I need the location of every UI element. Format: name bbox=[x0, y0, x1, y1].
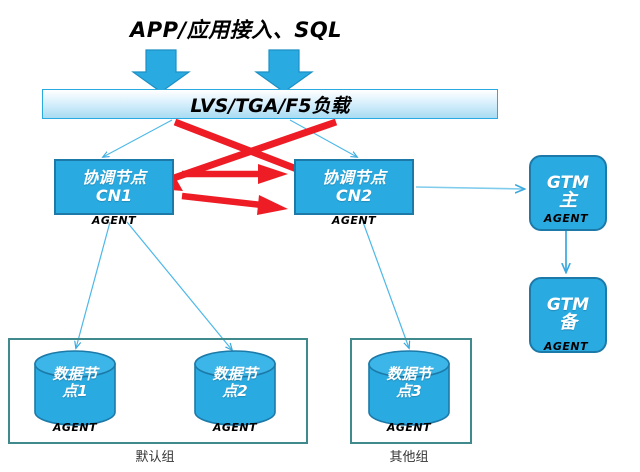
gtm-standby-label-line2: 备 bbox=[559, 314, 577, 333]
connector-cn1-to-dn2 bbox=[127, 222, 232, 350]
inflow-arrow-right-icon bbox=[256, 50, 312, 92]
connector-lvs-to-cn1 bbox=[103, 120, 172, 157]
cn1-label-line2: CN1 bbox=[96, 187, 132, 205]
database-cylinder-icon bbox=[32, 350, 118, 426]
cn1-agent-label: AGENT bbox=[54, 214, 174, 227]
database-cylinder-icon bbox=[192, 350, 278, 426]
gtm-primary-agent-label: AGENT bbox=[523, 212, 609, 225]
load-balancer-label: LVS/TGA/F5负载 bbox=[190, 91, 349, 118]
group-label-other: 其他组 bbox=[350, 446, 468, 465]
cn1-label-line1: 协调节点 bbox=[82, 169, 146, 187]
data-node-2[interactable]: 数据节 点2 bbox=[192, 350, 278, 426]
cn2-label-line1: 协调节点 bbox=[322, 169, 386, 187]
connector-cn2-to-gtm-primary bbox=[416, 187, 524, 189]
dn3-agent-label: AGENT bbox=[366, 421, 452, 434]
coordinator-node-cn2[interactable]: 协调节点 CN2 bbox=[294, 159, 414, 215]
dn2-agent-label: AGENT bbox=[192, 421, 278, 434]
load-balancer-bar[interactable]: LVS/TGA/F5负载 bbox=[42, 89, 498, 119]
cn2-agent-label: AGENT bbox=[294, 214, 414, 227]
architecture-diagram: APP/应用接入、SQL LVS/TGA/F5负载 默认组 其他组 协调节点 C… bbox=[0, 0, 640, 472]
gtm-standby-agent-label: AGENT bbox=[523, 340, 609, 353]
connector-cn2-to-dn3 bbox=[363, 222, 409, 348]
database-cylinder-icon bbox=[366, 350, 452, 426]
connector-cn1-to-dn1 bbox=[76, 222, 110, 348]
data-node-1[interactable]: 数据节 点1 bbox=[32, 350, 118, 426]
data-node-3[interactable]: 数据节 点3 bbox=[366, 350, 452, 426]
gtm-primary-label-line2: 主 bbox=[559, 192, 577, 211]
cn2-label-line2: CN2 bbox=[336, 187, 372, 205]
coordinator-node-cn1[interactable]: 协调节点 CN1 bbox=[54, 159, 174, 215]
inflow-arrow-left-icon bbox=[133, 50, 189, 92]
group-label-default: 默认组 bbox=[60, 446, 250, 465]
dn1-agent-label: AGENT bbox=[32, 421, 118, 434]
red-arrow-cn1-to-cn2-lower bbox=[182, 195, 288, 215]
page-title: APP/应用接入、SQL bbox=[130, 14, 460, 44]
